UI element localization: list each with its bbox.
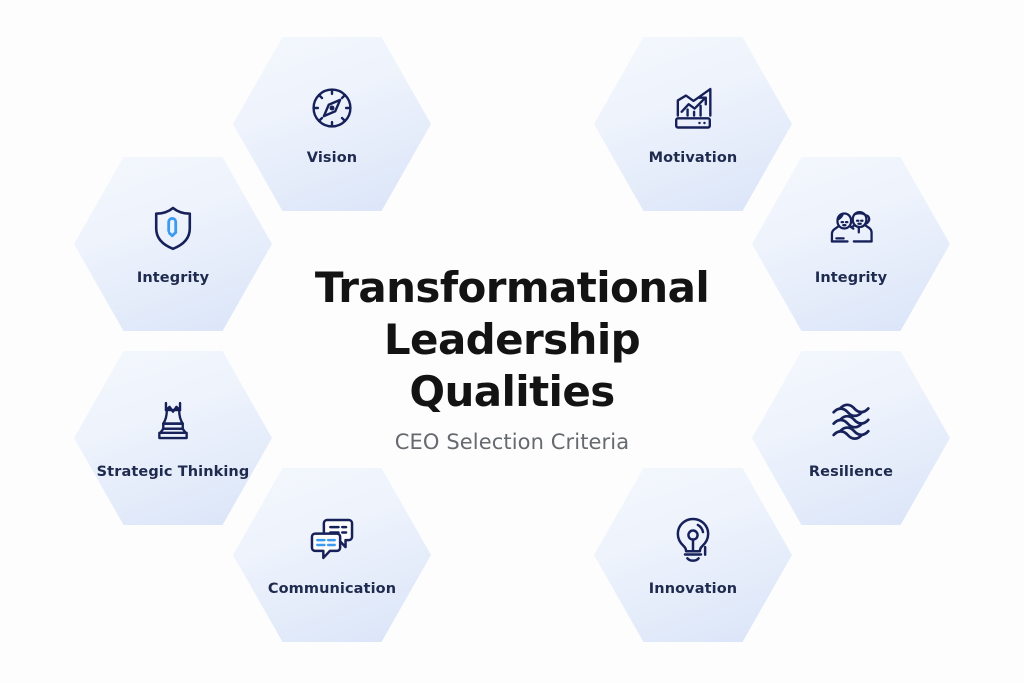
chess-queen-icon <box>146 395 200 449</box>
compass-icon <box>305 81 359 135</box>
growth-chart-icon <box>666 81 720 135</box>
hex-label-strategic-thinking: Strategic Thinking <box>97 465 250 481</box>
hex-cell-integrity-shield[interactable]: Integrity <box>74 157 272 331</box>
hex-label-resilience: Resilience <box>809 465 893 481</box>
hex-cell-innovation[interactable]: Innovation <box>594 468 792 642</box>
page-title-line-1: Transformational <box>290 262 734 314</box>
hex-label-communication: Communication <box>268 582 396 598</box>
hex-label-integrity-team: Integrity <box>815 271 887 287</box>
hex-label-innovation: Innovation <box>649 582 737 598</box>
hex-cell-resilience[interactable]: Resilience <box>752 351 950 525</box>
chat-bubbles-icon <box>305 512 359 566</box>
hex-cell-communication[interactable]: Communication <box>233 468 431 642</box>
page-title-line-2: Leadership Qualities <box>290 314 734 418</box>
hex-label-integrity-shield: Integrity <box>137 271 209 287</box>
hex-label-motivation: Motivation <box>649 151 738 167</box>
infographic-canvas: Vision Motivation <box>0 0 1024 683</box>
hex-cell-vision[interactable]: Vision <box>233 37 431 211</box>
team-people-icon <box>824 201 878 255</box>
lightbulb-icon <box>666 512 720 566</box>
hex-cell-strategic-thinking[interactable]: Strategic Thinking <box>74 351 272 525</box>
shield-check-icon <box>146 201 200 255</box>
waves-icon <box>824 395 878 449</box>
hex-cell-integrity-team[interactable]: Integrity <box>752 157 950 331</box>
hex-cell-motivation[interactable]: Motivation <box>594 37 792 211</box>
center-title-block: Transformational Leadership Qualities CE… <box>290 262 734 454</box>
hex-label-vision: Vision <box>307 151 357 167</box>
page-subtitle: CEO Selection Criteria <box>290 430 734 454</box>
